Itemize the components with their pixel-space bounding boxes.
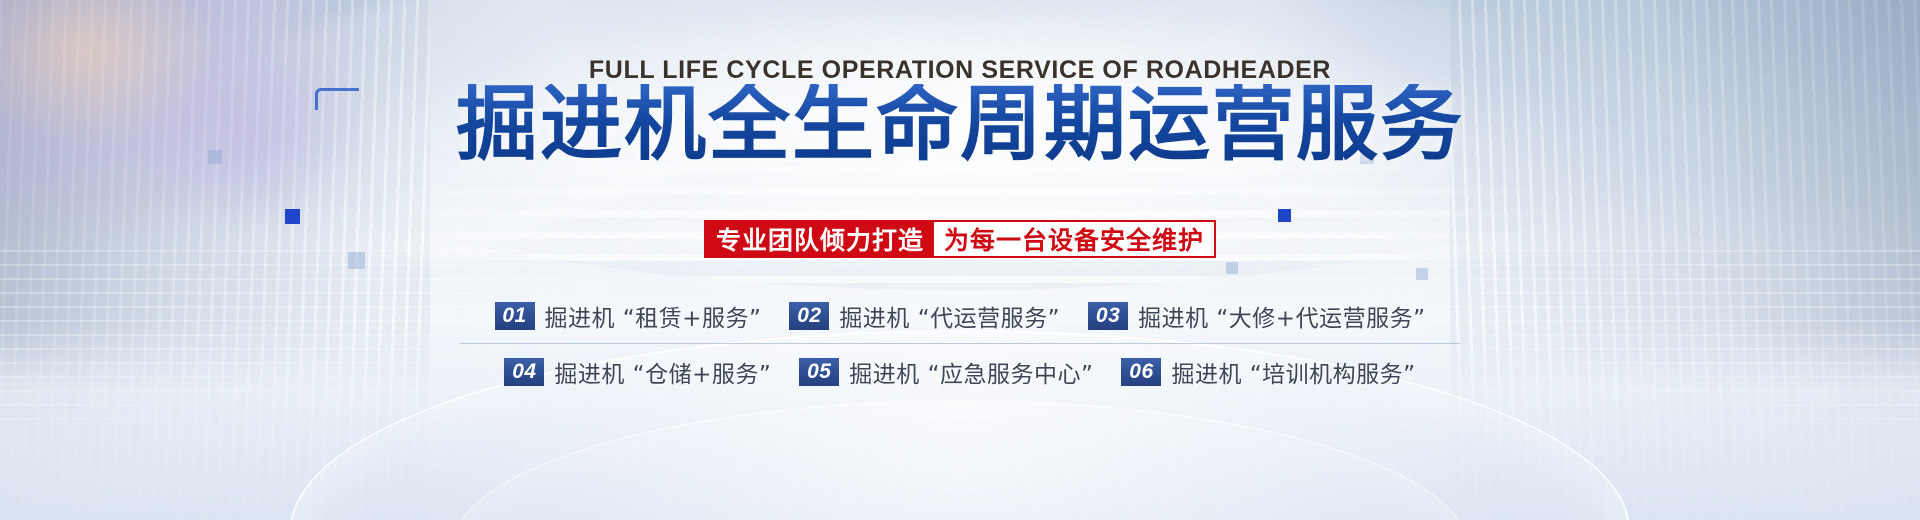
service-number-badge: 01 bbox=[495, 302, 535, 330]
service-number-badge: 02 bbox=[789, 302, 829, 330]
service-item-02[interactable]: 02 掘进机 “代运营服务” bbox=[775, 299, 1074, 333]
slogan-primary: 专业团队倾力打造 bbox=[706, 222, 934, 256]
service-label: 掘进机 “应急服务中心” bbox=[849, 355, 1093, 389]
service-list: 01 掘进机 “租赁+服务” 02 掘进机 “代运营服务” 03 掘进机 “大修… bbox=[460, 288, 1460, 400]
service-label: 掘进机 “代运营服务” bbox=[839, 299, 1060, 333]
slogan-banner: 专业团队倾力打造 为每一台设备安全维护 bbox=[704, 220, 1216, 258]
service-row-top: 01 掘进机 “租赁+服务” 02 掘进机 “代运营服务” 03 掘进机 “大修… bbox=[460, 288, 1460, 344]
banner-content: FULL LIFE CYCLE OPERATION SERVICE OF ROA… bbox=[0, 0, 1920, 520]
service-label: 掘进机 “仓储+服务” bbox=[554, 355, 771, 389]
service-number-badge: 04 bbox=[504, 358, 544, 386]
slogan-secondary: 为每一台设备安全维护 bbox=[934, 222, 1214, 256]
service-number-badge: 06 bbox=[1121, 358, 1161, 386]
roadheader-banner: FULL LIFE CYCLE OPERATION SERVICE OF ROA… bbox=[0, 0, 1920, 520]
service-item-04[interactable]: 04 掘进机 “仓储+服务” bbox=[490, 355, 785, 389]
service-item-01[interactable]: 01 掘进机 “租赁+服务” bbox=[481, 299, 776, 333]
service-item-05[interactable]: 05 掘进机 “应急服务中心” bbox=[785, 355, 1107, 389]
service-item-06[interactable]: 06 掘进机 “培训机构服务” bbox=[1107, 355, 1429, 389]
service-label: 掘进机 “租赁+服务” bbox=[545, 299, 762, 333]
service-row-bottom: 04 掘进机 “仓储+服务” 05 掘进机 “应急服务中心” 06 掘进机 “培… bbox=[460, 344, 1460, 400]
service-number-badge: 05 bbox=[799, 358, 839, 386]
service-number-badge: 03 bbox=[1088, 302, 1128, 330]
service-label: 掘进机 “培训机构服务” bbox=[1171, 355, 1415, 389]
main-title: 掘进机全生命周期运营服务 bbox=[0, 84, 1920, 166]
service-label: 掘进机 “大修+代运营服务” bbox=[1138, 299, 1425, 333]
service-item-03[interactable]: 03 掘进机 “大修+代运营服务” bbox=[1074, 299, 1439, 333]
